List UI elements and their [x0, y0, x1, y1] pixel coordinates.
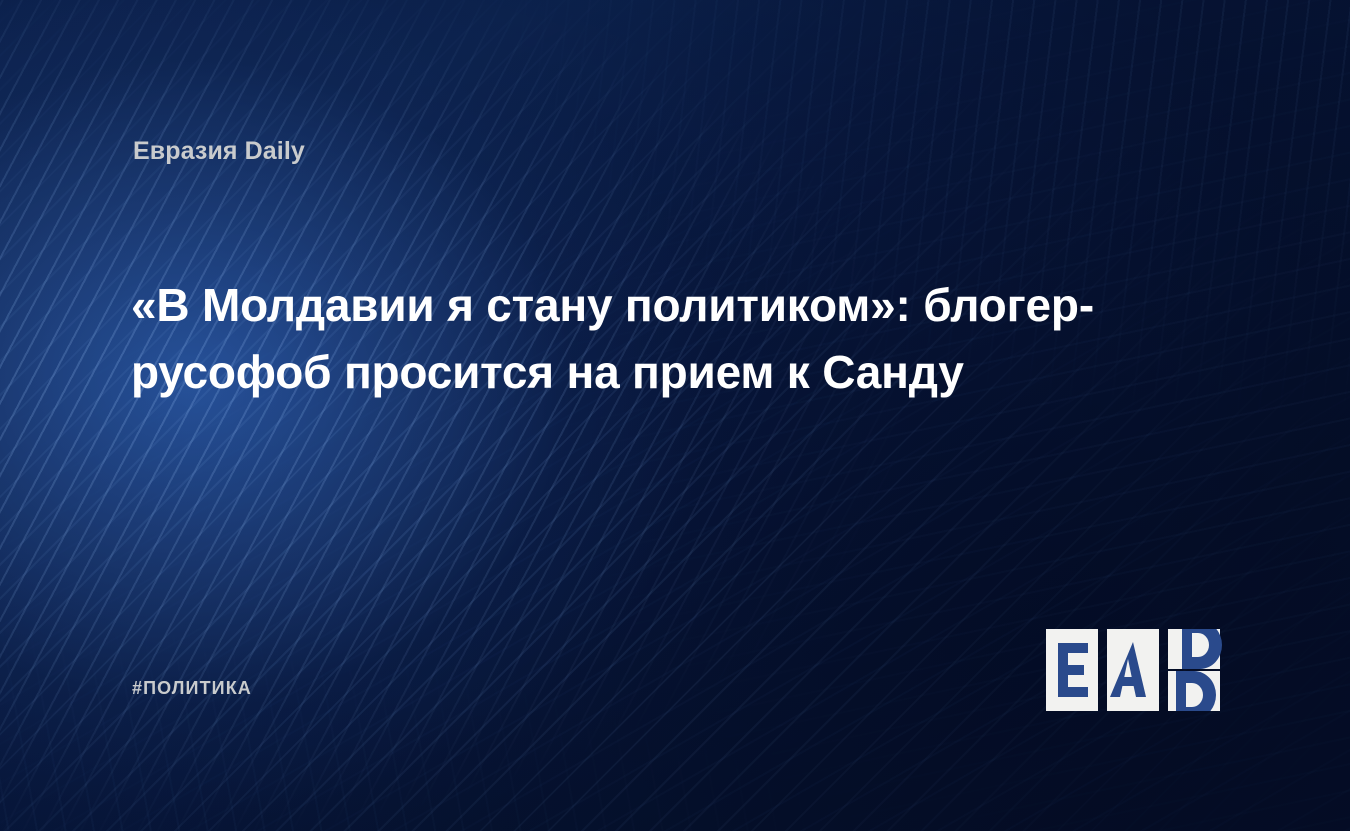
- logo-letter-e: [1058, 643, 1088, 697]
- page-title: «В Молдавии я стану политиком»: блогер-р…: [131, 272, 1116, 406]
- card-content: Евразия Daily «В Молдавии я стану полити…: [0, 0, 1350, 831]
- social-share-card: Евразия Daily «В Молдавии я стану полити…: [0, 0, 1350, 831]
- eadaily-logo-svg: [1046, 629, 1224, 711]
- site-name: Евразия Daily: [133, 137, 305, 166]
- eadaily-logo: [1046, 629, 1224, 711]
- category-tag: #ПОЛИТИКА: [132, 678, 252, 699]
